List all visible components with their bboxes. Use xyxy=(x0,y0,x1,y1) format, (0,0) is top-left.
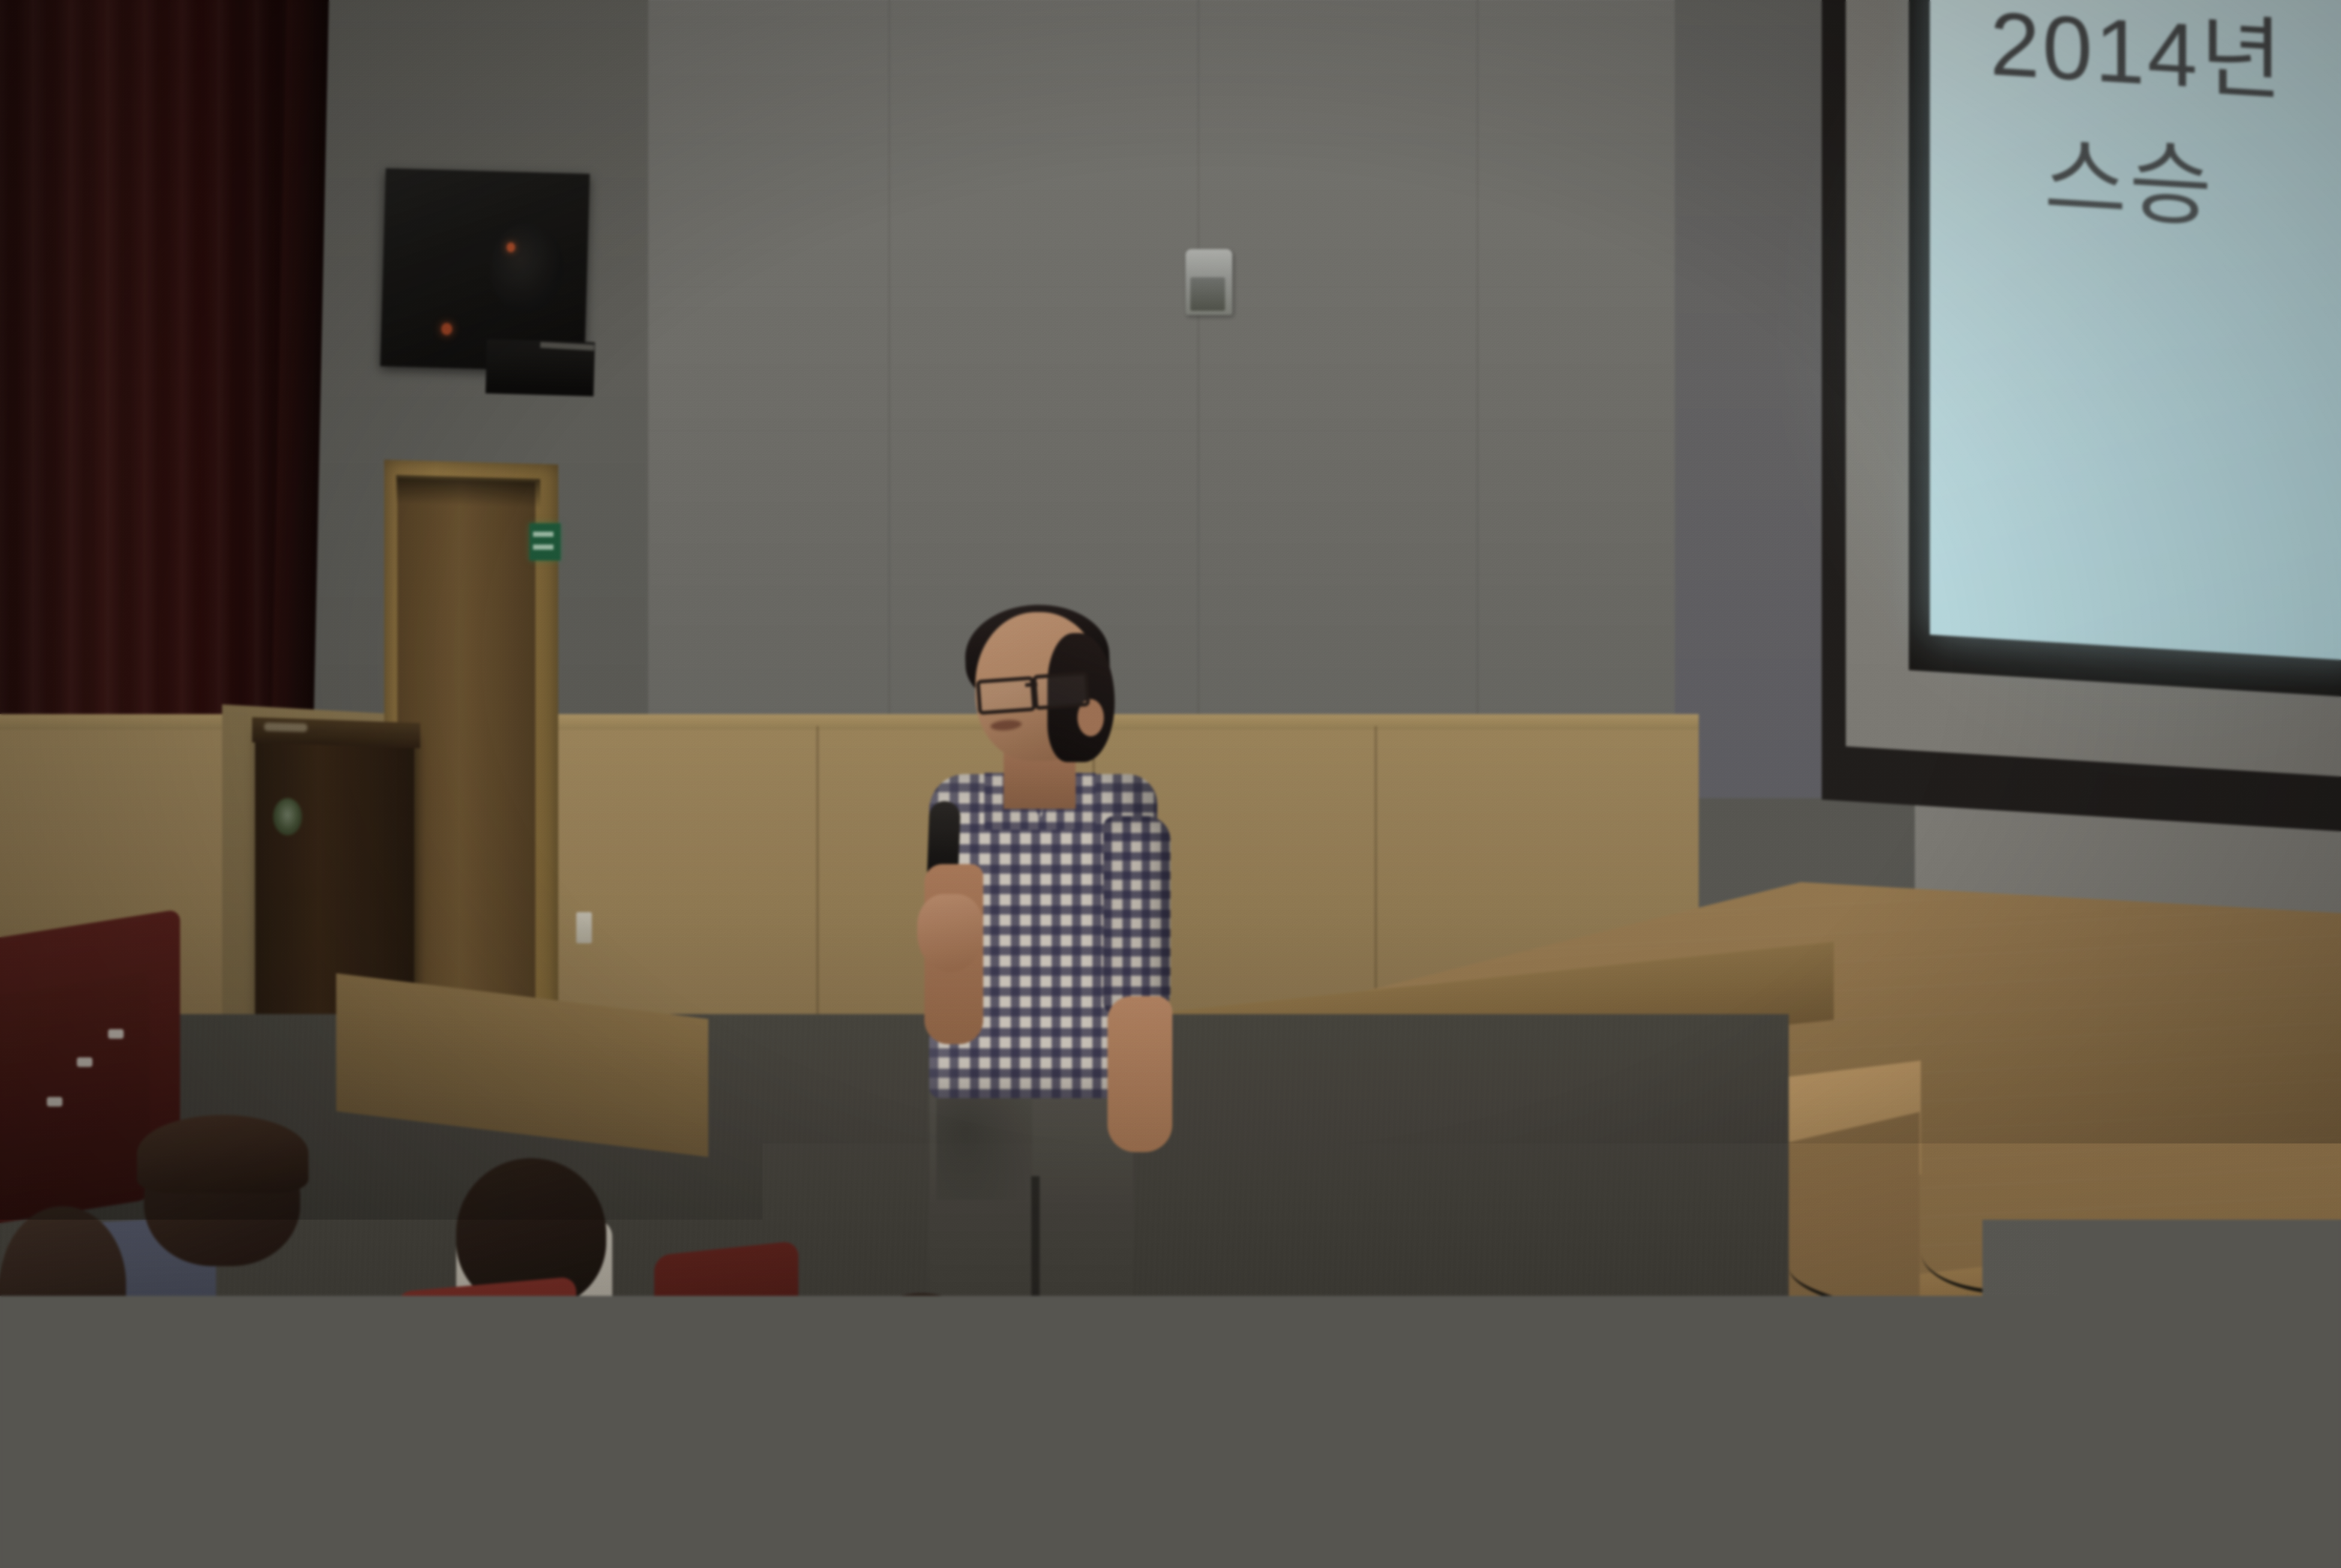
seat-number-marker xyxy=(47,1097,62,1107)
audience-head xyxy=(0,1206,126,1362)
auditorium-seat[interactable] xyxy=(774,1392,966,1568)
slide-line-2: 스승 xyxy=(1990,109,2341,265)
presenter-glasses-right-lens xyxy=(1032,671,1090,710)
projection-screen: 2014년 스승 xyxy=(1930,0,2341,661)
speaker-driver-icon xyxy=(490,222,564,314)
auditorium-photo: 2014년 스승 xyxy=(0,0,2341,1568)
seat-number-marker xyxy=(77,1057,92,1067)
door-head-shadow xyxy=(396,475,540,508)
auditorium-seat[interactable] xyxy=(576,1306,774,1568)
side-door[interactable] xyxy=(397,478,535,1022)
exit-sign-glyph-icon xyxy=(533,532,553,550)
audience-head-top xyxy=(137,1115,309,1193)
audience-shirt-badge xyxy=(1126,1422,1173,1461)
presenter-right-arm xyxy=(1107,996,1172,1152)
presenter-trouser-shadow xyxy=(936,1098,1032,1200)
lectern-emblem-icon xyxy=(273,798,302,835)
seat-number-marker xyxy=(108,1029,124,1039)
slide-text-block: 2014년 스승 xyxy=(1990,0,2341,265)
presenter-hand xyxy=(917,894,983,972)
wall-mortar-joint xyxy=(1477,0,1478,732)
presenter-glasses-left-lens xyxy=(976,676,1036,715)
lectern-highlight xyxy=(264,722,307,732)
seat-row[interactable] xyxy=(0,972,150,1225)
presenter-sleeve xyxy=(1103,816,1170,1014)
motion-sensor-lens-icon xyxy=(1190,277,1225,311)
speaker-led-indicator xyxy=(441,323,453,335)
wall-outlet xyxy=(576,912,592,943)
audience-head-blonde xyxy=(384,1338,564,1568)
audience-head xyxy=(1537,1374,1705,1566)
